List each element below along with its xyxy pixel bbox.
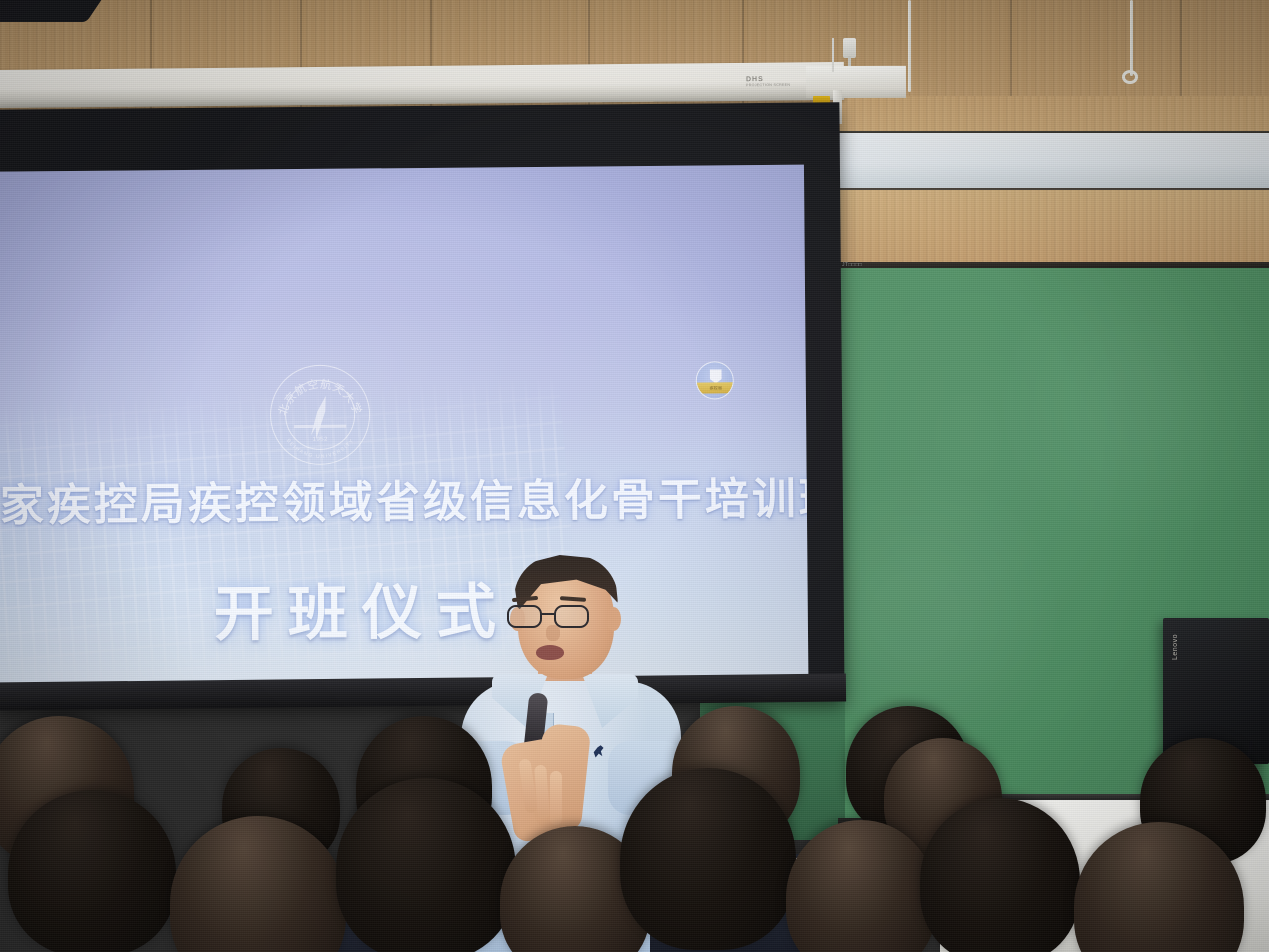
badge-shield-mark [710,369,722,383]
seal-base-bar [294,425,346,428]
screen-hook [832,38,834,72]
emblem-badge-icon: 疾控局 [696,361,734,399]
ceiling-cable [1130,0,1133,76]
badge-band-text: 疾控局 [710,385,723,391]
projector-screen-housing [0,62,844,108]
audience-head [920,798,1080,952]
audience-head [336,778,516,952]
audience-head [8,790,176,952]
glasses-right-lens-icon [554,605,589,628]
university-seal-icon: 北京航空航天大学 BEIHANG UNIVERSITY 1952 [261,364,380,465]
glasses-bridge [541,613,556,615]
audience-head [620,768,796,950]
screen-housing-brand: DHS PROJECTION SCREEN [746,76,790,87]
wall-white-strip [838,131,1269,190]
badge-band: 疾控局 [697,382,734,393]
glasses-left-lens-icon [507,605,542,628]
speaker-right-ear [606,607,621,631]
projector-screen-housing-right [806,66,906,98]
photo-scene: JT□□□□ DHS PROJECTION SCREEN Lenovo [0,0,1269,952]
cable-coil [1122,70,1138,84]
speaker-nose [546,625,560,641]
slide-title: 国家疾控局疾控领域省级信息化骨干培训班 [0,463,753,534]
seal-year: 1952 [261,436,379,443]
ceiling-cable [908,0,911,92]
screen-housing-brand-sub: PROJECTION SCREEN [746,83,790,87]
wall-plug [843,38,856,58]
audience-group [0,640,1269,952]
